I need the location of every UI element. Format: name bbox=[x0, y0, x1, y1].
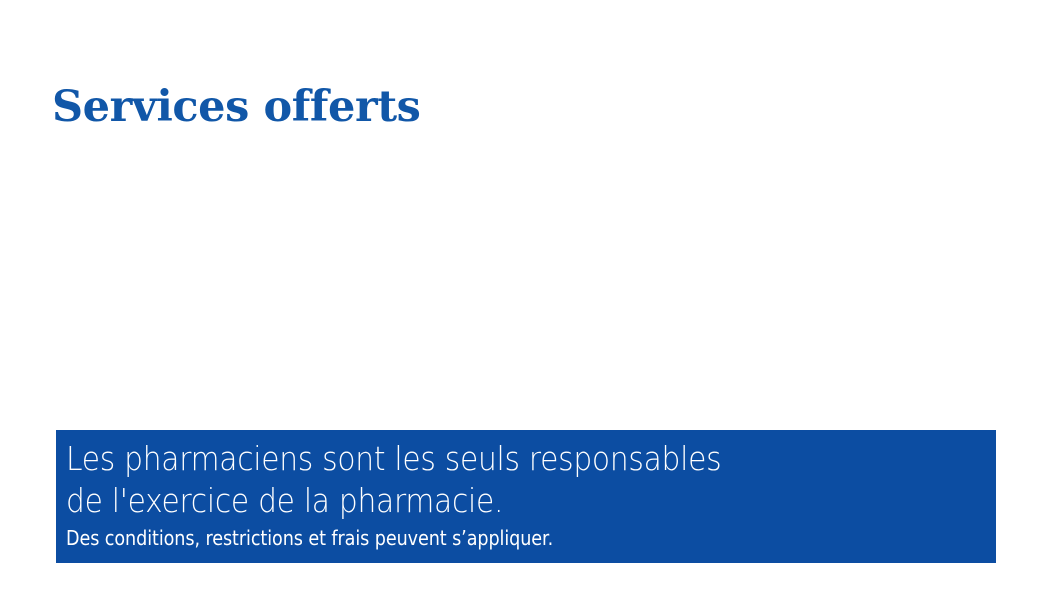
banner-subline: Des conditions, restrictions et frais pe… bbox=[66, 525, 884, 551]
page-title: Services offerts bbox=[52, 86, 420, 129]
banner-headline: Les pharmaciens sont les seuls responsab… bbox=[66, 438, 903, 522]
banner-headline-line-1: Les pharmaciens sont les seuls responsab… bbox=[66, 438, 903, 480]
slide-canvas: Services offerts Les pharmaciens sont le… bbox=[0, 0, 1050, 600]
callout-banner: Les pharmaciens sont les seuls responsab… bbox=[56, 430, 996, 563]
banner-headline-line-2: de l'exercice de la pharmacie. bbox=[66, 480, 903, 522]
